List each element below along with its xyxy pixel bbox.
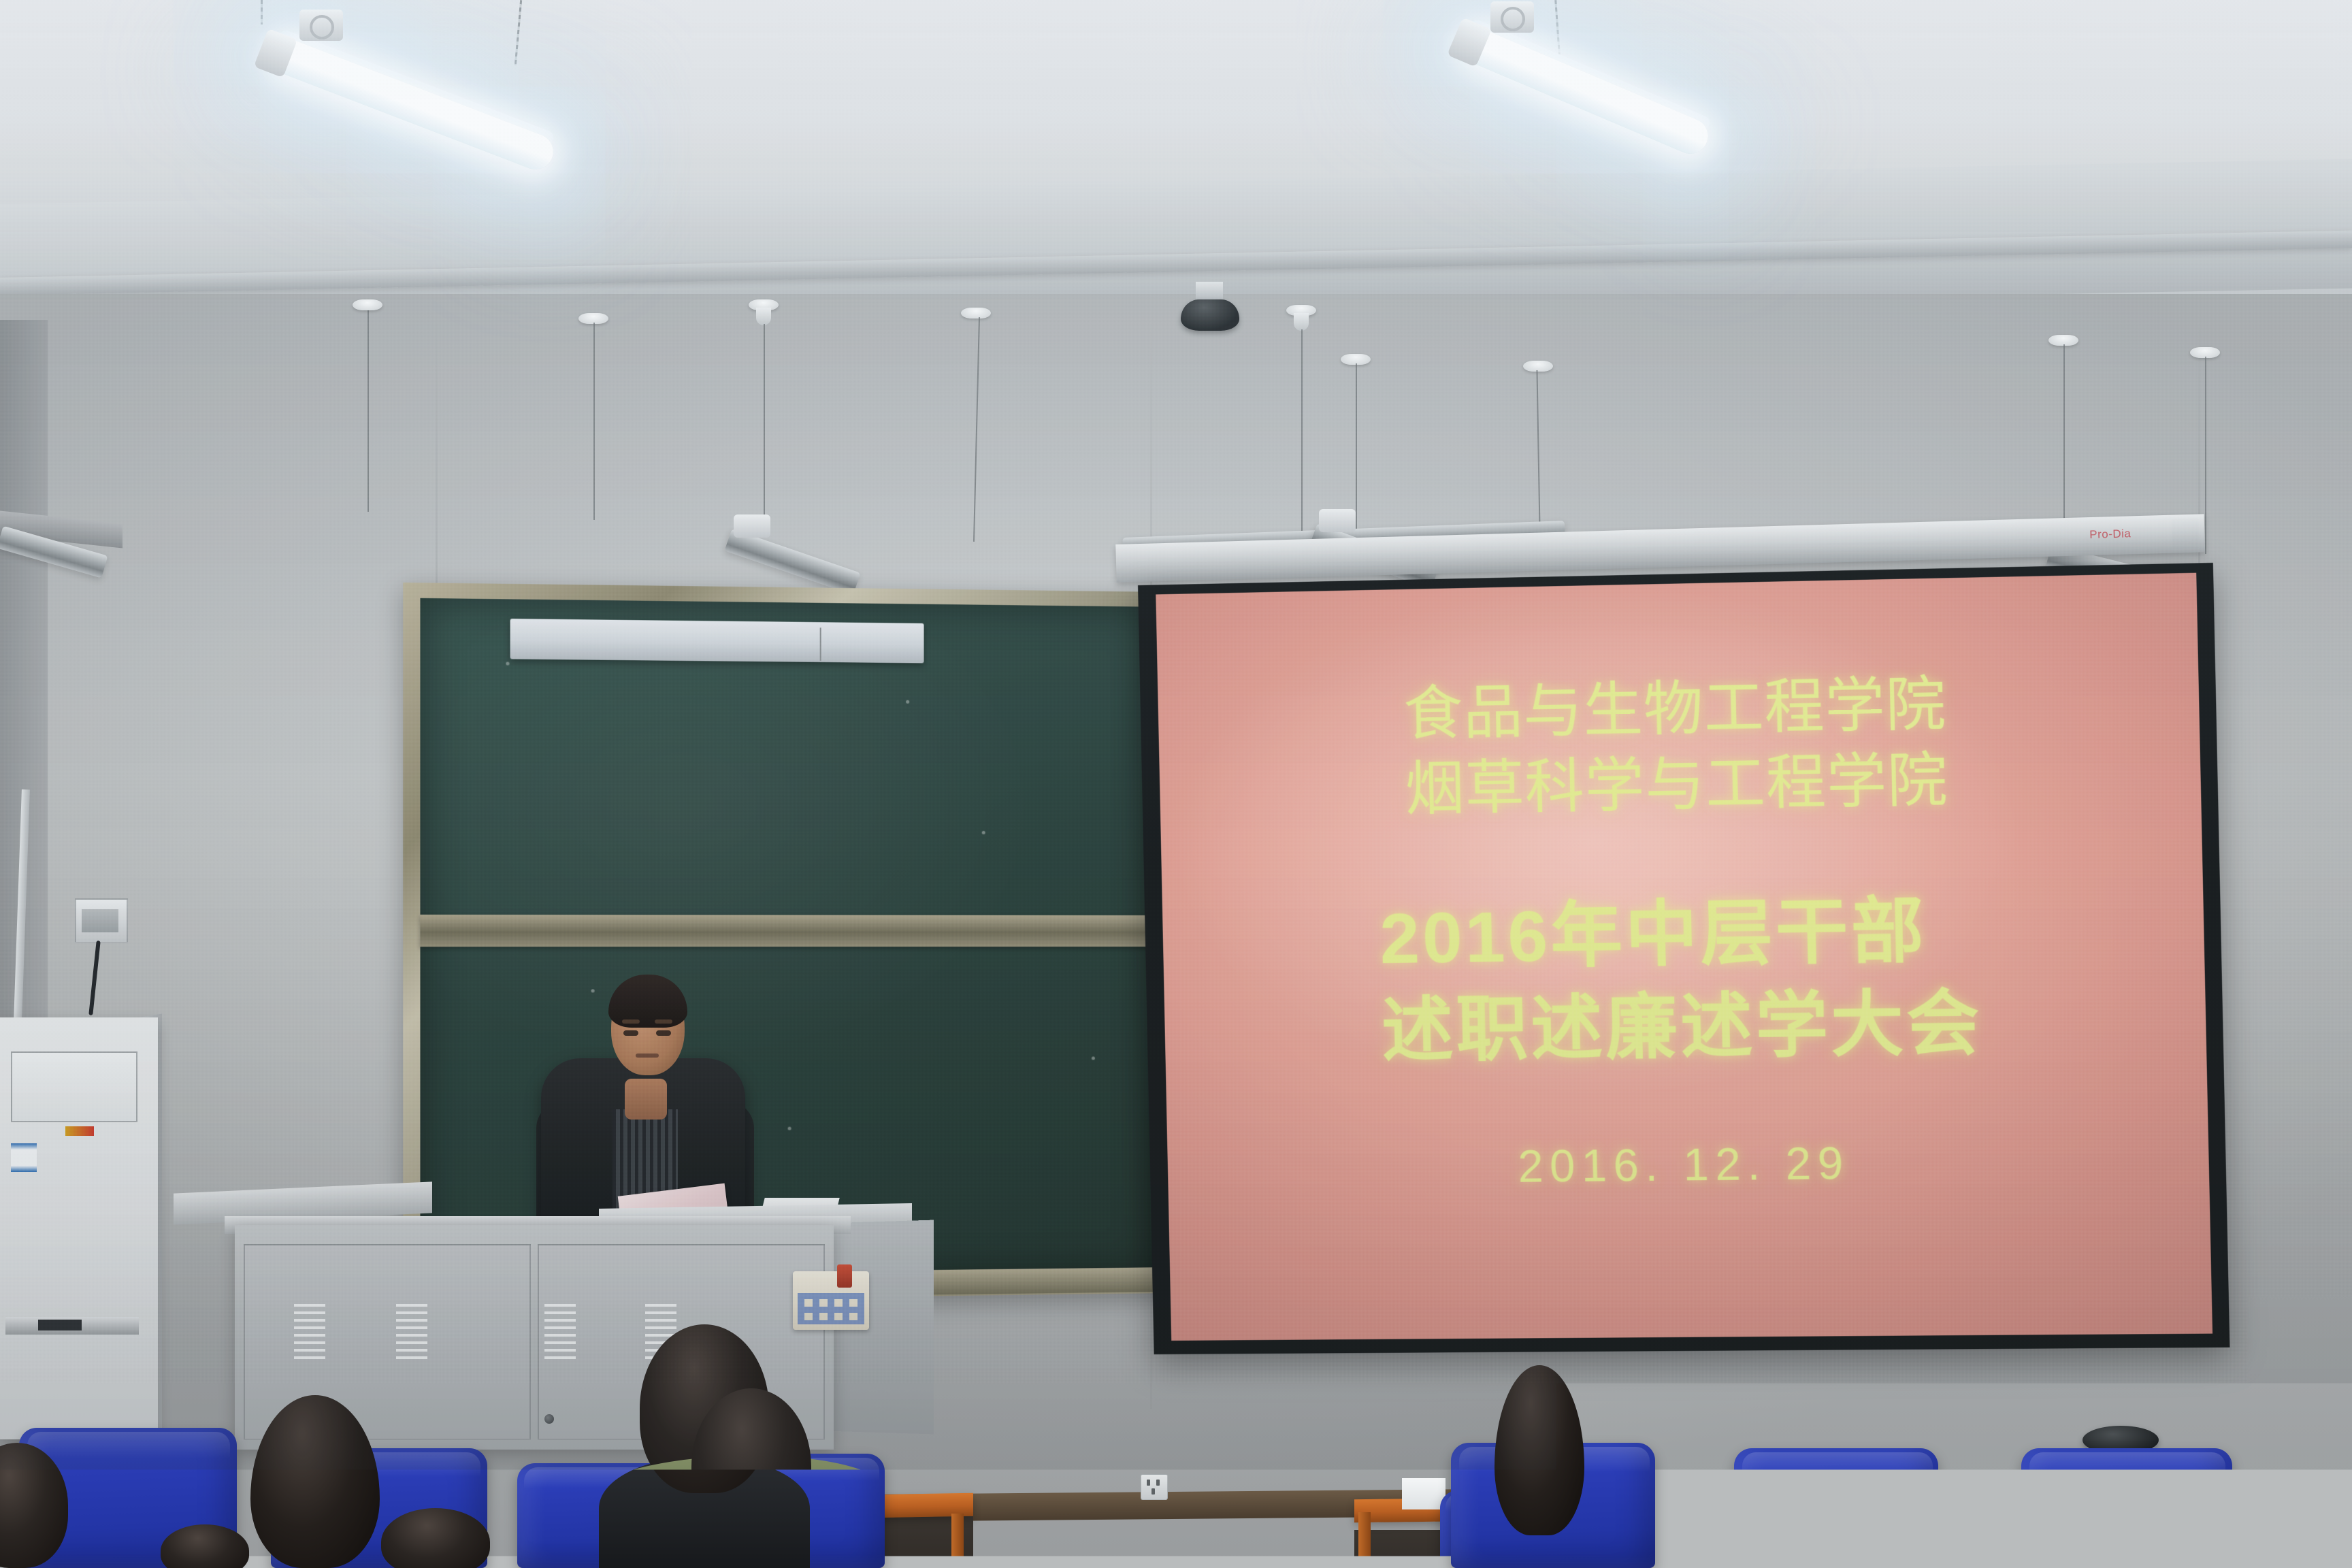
basket-item-red bbox=[837, 1264, 852, 1288]
lamp-clip bbox=[1319, 509, 1356, 532]
seat-front-7[interactable] bbox=[2021, 1448, 2232, 1568]
lamp-ring-icon bbox=[310, 15, 334, 39]
slide-title-line-2: 述职述廉述学大会 bbox=[1381, 978, 1983, 1079]
slide-org-line-2: 烟草科学与工程学院 bbox=[1405, 742, 1949, 828]
cabinet-vent bbox=[396, 1304, 427, 1360]
slide-date: 2016. 12. 29 bbox=[1518, 1137, 1850, 1192]
slide-title-lines: 2016年中层干部 述职述廉述学大会 bbox=[1379, 885, 1983, 1079]
ceiling-speaker-icon bbox=[1181, 299, 1239, 331]
fixture-cord bbox=[2205, 357, 2206, 554]
lamp-chain bbox=[261, 0, 263, 24]
wall-outlet[interactable] bbox=[1141, 1474, 1168, 1500]
fixture-cord bbox=[593, 323, 595, 520]
cabinet-vent bbox=[294, 1304, 325, 1360]
slide-content: 食品与生物工程学院 烟草科学与工程学院 2016年中层干部 述职述廉述学大会 2… bbox=[1156, 573, 2212, 1341]
fixture-cord bbox=[367, 308, 369, 512]
lamp-ring-icon bbox=[1501, 7, 1525, 31]
lamp-clip bbox=[734, 514, 770, 538]
speaker-eye-right bbox=[656, 1030, 671, 1036]
ac-grille-slot bbox=[38, 1320, 82, 1330]
chalkboard bbox=[403, 583, 1171, 1303]
speaker-neck bbox=[625, 1079, 667, 1120]
ceiling-mount-knob bbox=[1294, 313, 1309, 331]
slide-org-line-1: 食品与生物工程学院 bbox=[1403, 666, 1947, 752]
fixture-cord bbox=[764, 324, 765, 521]
projection-screen[interactable]: 食品与生物工程学院 烟草科学与工程学院 2016年中层干部 述职述廉述学大会 2… bbox=[1138, 563, 2229, 1354]
ac-control-display bbox=[82, 909, 118, 932]
ceiling-mount bbox=[961, 308, 991, 318]
classroom-photo: Pro-Dia 食品与生物工程学院 烟草科学与工程学院 2016年中层干部 述职… bbox=[0, 0, 2352, 1568]
roll-hook bbox=[820, 627, 821, 661]
screen-brand-label: Pro-Dia bbox=[2089, 527, 2131, 542]
desk-paper bbox=[1402, 1478, 1445, 1509]
fixture-cord bbox=[1356, 363, 1357, 554]
slide-title-line-1: 2016年中层干部 bbox=[1379, 885, 1981, 986]
speaker-brow-left bbox=[622, 1019, 640, 1024]
desk-leg bbox=[1358, 1512, 1371, 1568]
cabinet-vent bbox=[544, 1304, 576, 1360]
ceiling-mount bbox=[1523, 361, 1553, 372]
ac-front-panel bbox=[11, 1051, 137, 1122]
ceiling-mount-knob bbox=[756, 308, 771, 325]
ac-energy-label bbox=[11, 1143, 37, 1172]
speaker-eye-left bbox=[623, 1030, 638, 1036]
basket-pattern bbox=[798, 1293, 864, 1324]
ac-sticker bbox=[65, 1126, 94, 1136]
projection-roll-secondary[interactable] bbox=[510, 619, 924, 663]
speaker-mouth bbox=[636, 1053, 659, 1058]
screen-housing-endcap bbox=[2172, 519, 2200, 549]
fixture-cord bbox=[1301, 329, 1303, 534]
speaker-brow-right bbox=[655, 1019, 672, 1024]
seat-front-6[interactable] bbox=[1734, 1448, 1938, 1568]
audience-head-6 bbox=[691, 1388, 811, 1545]
slide-org-lines: 食品与生物工程学院 烟草科学与工程学院 bbox=[1403, 666, 1948, 827]
ceiling-mount bbox=[353, 299, 382, 310]
cabinet-lock-icon[interactable] bbox=[544, 1414, 554, 1424]
seat-back-4[interactable] bbox=[2262, 1492, 2352, 1568]
chalkboard-divider bbox=[420, 915, 1156, 947]
projection-screen-surface: 食品与生物工程学院 烟草科学与工程学院 2016年中层干部 述职述廉述学大会 2… bbox=[1156, 573, 2212, 1341]
desk-leg bbox=[951, 1514, 964, 1568]
